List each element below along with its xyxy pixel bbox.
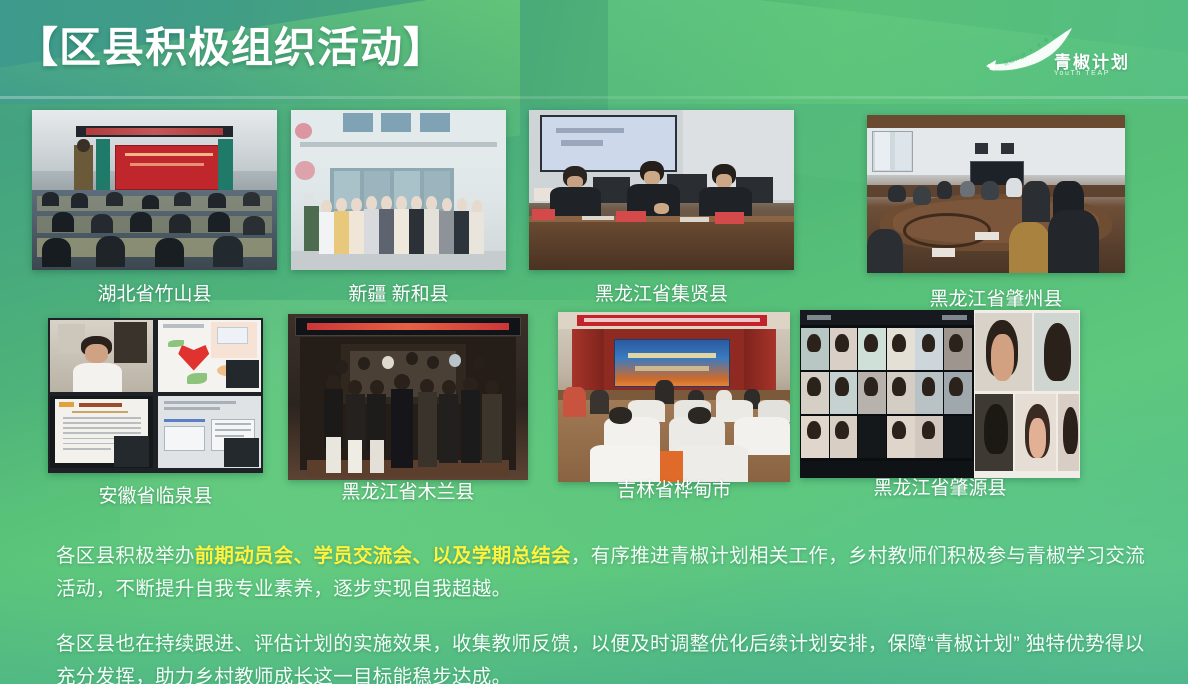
brand-subtitle: YouTh TEAP bbox=[1054, 70, 1110, 77]
gallery-caption-7: 吉林省桦甸市 bbox=[558, 478, 790, 504]
photo-oval-table-meeting-room bbox=[867, 115, 1125, 273]
gallery-caption-5: 安徽省临泉县 bbox=[48, 484, 263, 510]
gallery-caption-8: 黑龙江省肇源县 bbox=[800, 476, 1080, 502]
paragraph-1-highlight: 前期动员会、学员交流会、以及学期总结会 bbox=[195, 545, 571, 567]
gallery-item-2[interactable]: 新疆 新和县 bbox=[291, 110, 506, 270]
slide-header: 【区县积极组织活动】 青椒计划 青椒计划 YouTh TEAP bbox=[0, 0, 1188, 98]
body-text-block: 各区县积极举办前期动员会、学员交流会、以及学期总结会，有序推进青椒计划相关工作，… bbox=[56, 540, 1146, 684]
gallery-caption-3: 黑龙江省集贤县 bbox=[529, 282, 794, 308]
gallery-caption-2: 新疆 新和县 bbox=[291, 282, 506, 308]
photo-row-2: 安徽省临泉县 bbox=[0, 318, 1188, 518]
photo-panel-table-three-speakers bbox=[529, 110, 794, 270]
photo-video-call-many-participants bbox=[800, 310, 1080, 478]
photo-group-photo-led-banner bbox=[288, 314, 528, 480]
gallery-item-1[interactable]: 湖北省竹山县 bbox=[32, 110, 277, 270]
gallery-item-8[interactable]: 黑龙江省肇源县 bbox=[800, 310, 1080, 478]
paragraph-1-lead: 各区县积极举办 bbox=[56, 545, 195, 567]
paragraph-2: 各区县也在持续跟进、评估计划的实施效果，收集教师反馈，以便及时调整优化后续计划安… bbox=[56, 628, 1146, 684]
gallery-item-4[interactable]: 黑龙江省肇州县 bbox=[867, 115, 1125, 273]
paragraph-1: 各区县积极举办前期动员会、学员交流会、以及学期总结会，有序推进青椒计划相关工作，… bbox=[56, 540, 1146, 606]
gallery-item-7[interactable]: 吉林省桦甸市 bbox=[558, 312, 790, 482]
gallery-caption-6: 黑龙江省木兰县 bbox=[288, 480, 528, 506]
photo-row-1: 湖北省竹山县 bbox=[0, 110, 1188, 310]
brand-logo: 青椒计划 青椒计划 YouTh TEAP bbox=[986, 26, 1136, 88]
gallery-item-3[interactable]: 黑龙江省集贤县 bbox=[529, 110, 794, 270]
photo-conference-hall-audience bbox=[32, 110, 277, 270]
page-title: 【区县积极组织活动】 bbox=[16, 22, 446, 74]
gallery-caption-1: 湖北省竹山县 bbox=[32, 282, 277, 308]
photo-group-photo-building bbox=[291, 110, 506, 270]
presentation-slide: 【区县积极组织活动】 青椒计划 青椒计划 YouTh TEAP bbox=[0, 0, 1188, 684]
gallery-item-5[interactable]: 安徽省临泉县 bbox=[48, 318, 263, 473]
photo-auditorium-red-stage bbox=[558, 312, 790, 482]
gallery-item-6[interactable]: 黑龙江省木兰县 bbox=[288, 314, 528, 480]
photo-video-call-quad-grid bbox=[48, 318, 263, 473]
